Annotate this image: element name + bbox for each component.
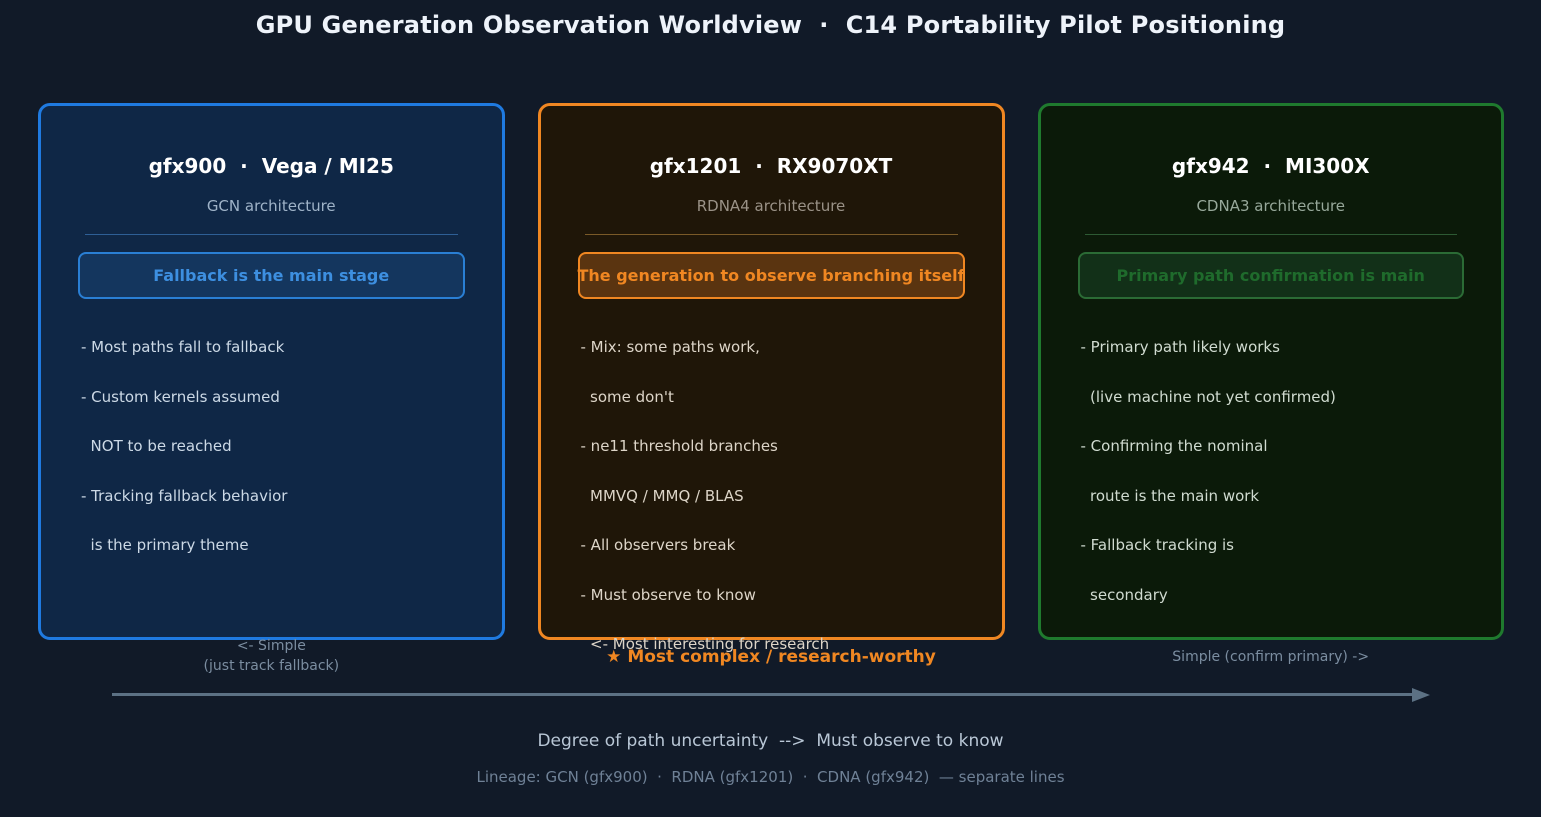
bullet-item: - Tracking fallback behavior [81, 472, 482, 522]
card-bullets: - Primary path likely works (live machin… [1061, 323, 1482, 620]
bullet-item: - Most paths fall to fallback [81, 323, 482, 373]
card-title: gfx942 · MI300X [1061, 154, 1482, 178]
bullet-item: - Confirming the nominal [1081, 422, 1482, 472]
card-gfx942[interactable]: gfx942 · MI300X CDNA3 architecture Prima… [1038, 103, 1505, 640]
lineage-note: Lineage: GCN (gfx900) · RDNA (gfx1201) ·… [0, 768, 1541, 786]
bullet-item: secondary [1081, 571, 1482, 621]
card-bullets: - Most paths fall to fallback - Custom k… [61, 323, 482, 571]
card-subtitle: CDNA3 architecture [1061, 197, 1482, 215]
footnote-most-complex: ★ Most complex / research-worthy [538, 636, 1005, 676]
bullet-item: - ne11 threshold branches [581, 422, 982, 472]
bullet-item: is the primary theme [81, 521, 482, 571]
bullet-item: - Custom kernels assumed [81, 373, 482, 423]
arrow-right-icon [1412, 688, 1430, 702]
axis-caption: Degree of path uncertainty --> Must obse… [0, 731, 1541, 751]
card-divider [1085, 234, 1458, 235]
card-bullets: - Mix: some paths work, some don't - ne1… [561, 323, 982, 670]
card-badge: Primary path confirmation is main [1078, 252, 1465, 299]
card-divider [85, 234, 458, 235]
uncertainty-axis [112, 688, 1430, 702]
bullet-item: NOT to be reached [81, 422, 482, 472]
card-subtitle: GCN architecture [61, 197, 482, 215]
footnote-simple-left: <- Simple (just track fallback) [38, 636, 505, 676]
bullet-item: some don't [581, 373, 982, 423]
bullet-item: route is the main work [1081, 472, 1482, 522]
bullet-item: - All observers break [581, 521, 982, 571]
bullet-item: (live machine not yet confirmed) [1081, 373, 1482, 423]
card-badge: Fallback is the main stage [78, 252, 465, 299]
bullet-item: - Fallback tracking is [1081, 521, 1482, 571]
card-gfx1201[interactable]: gfx1201 · RX9070XT RDNA4 architecture Th… [538, 103, 1005, 640]
card-title: gfx900 · Vega / MI25 [61, 154, 482, 178]
bullet-item: MMVQ / MMQ / BLAS [581, 472, 982, 522]
card-divider [585, 234, 958, 235]
bullet-item: - Must observe to know [581, 571, 982, 621]
axis-line [112, 693, 1412, 696]
footnote-row: <- Simple (just track fallback) ★ Most c… [38, 636, 1504, 676]
card-gfx900[interactable]: gfx900 · Vega / MI25 GCN architecture Fa… [38, 103, 505, 640]
card-row: gfx900 · Vega / MI25 GCN architecture Fa… [38, 103, 1504, 640]
card-subtitle: RDNA4 architecture [561, 197, 982, 215]
bullet-item: - Mix: some paths work, [581, 323, 982, 373]
bullet-item: - Primary path likely works [1081, 323, 1482, 373]
footnote-simple-right: Simple (confirm primary) -> [1037, 636, 1504, 676]
page-title: GPU Generation Observation Worldview · C… [0, 0, 1541, 39]
card-badge: The generation to observe branching itse… [578, 252, 965, 299]
card-title: gfx1201 · RX9070XT [561, 154, 982, 178]
